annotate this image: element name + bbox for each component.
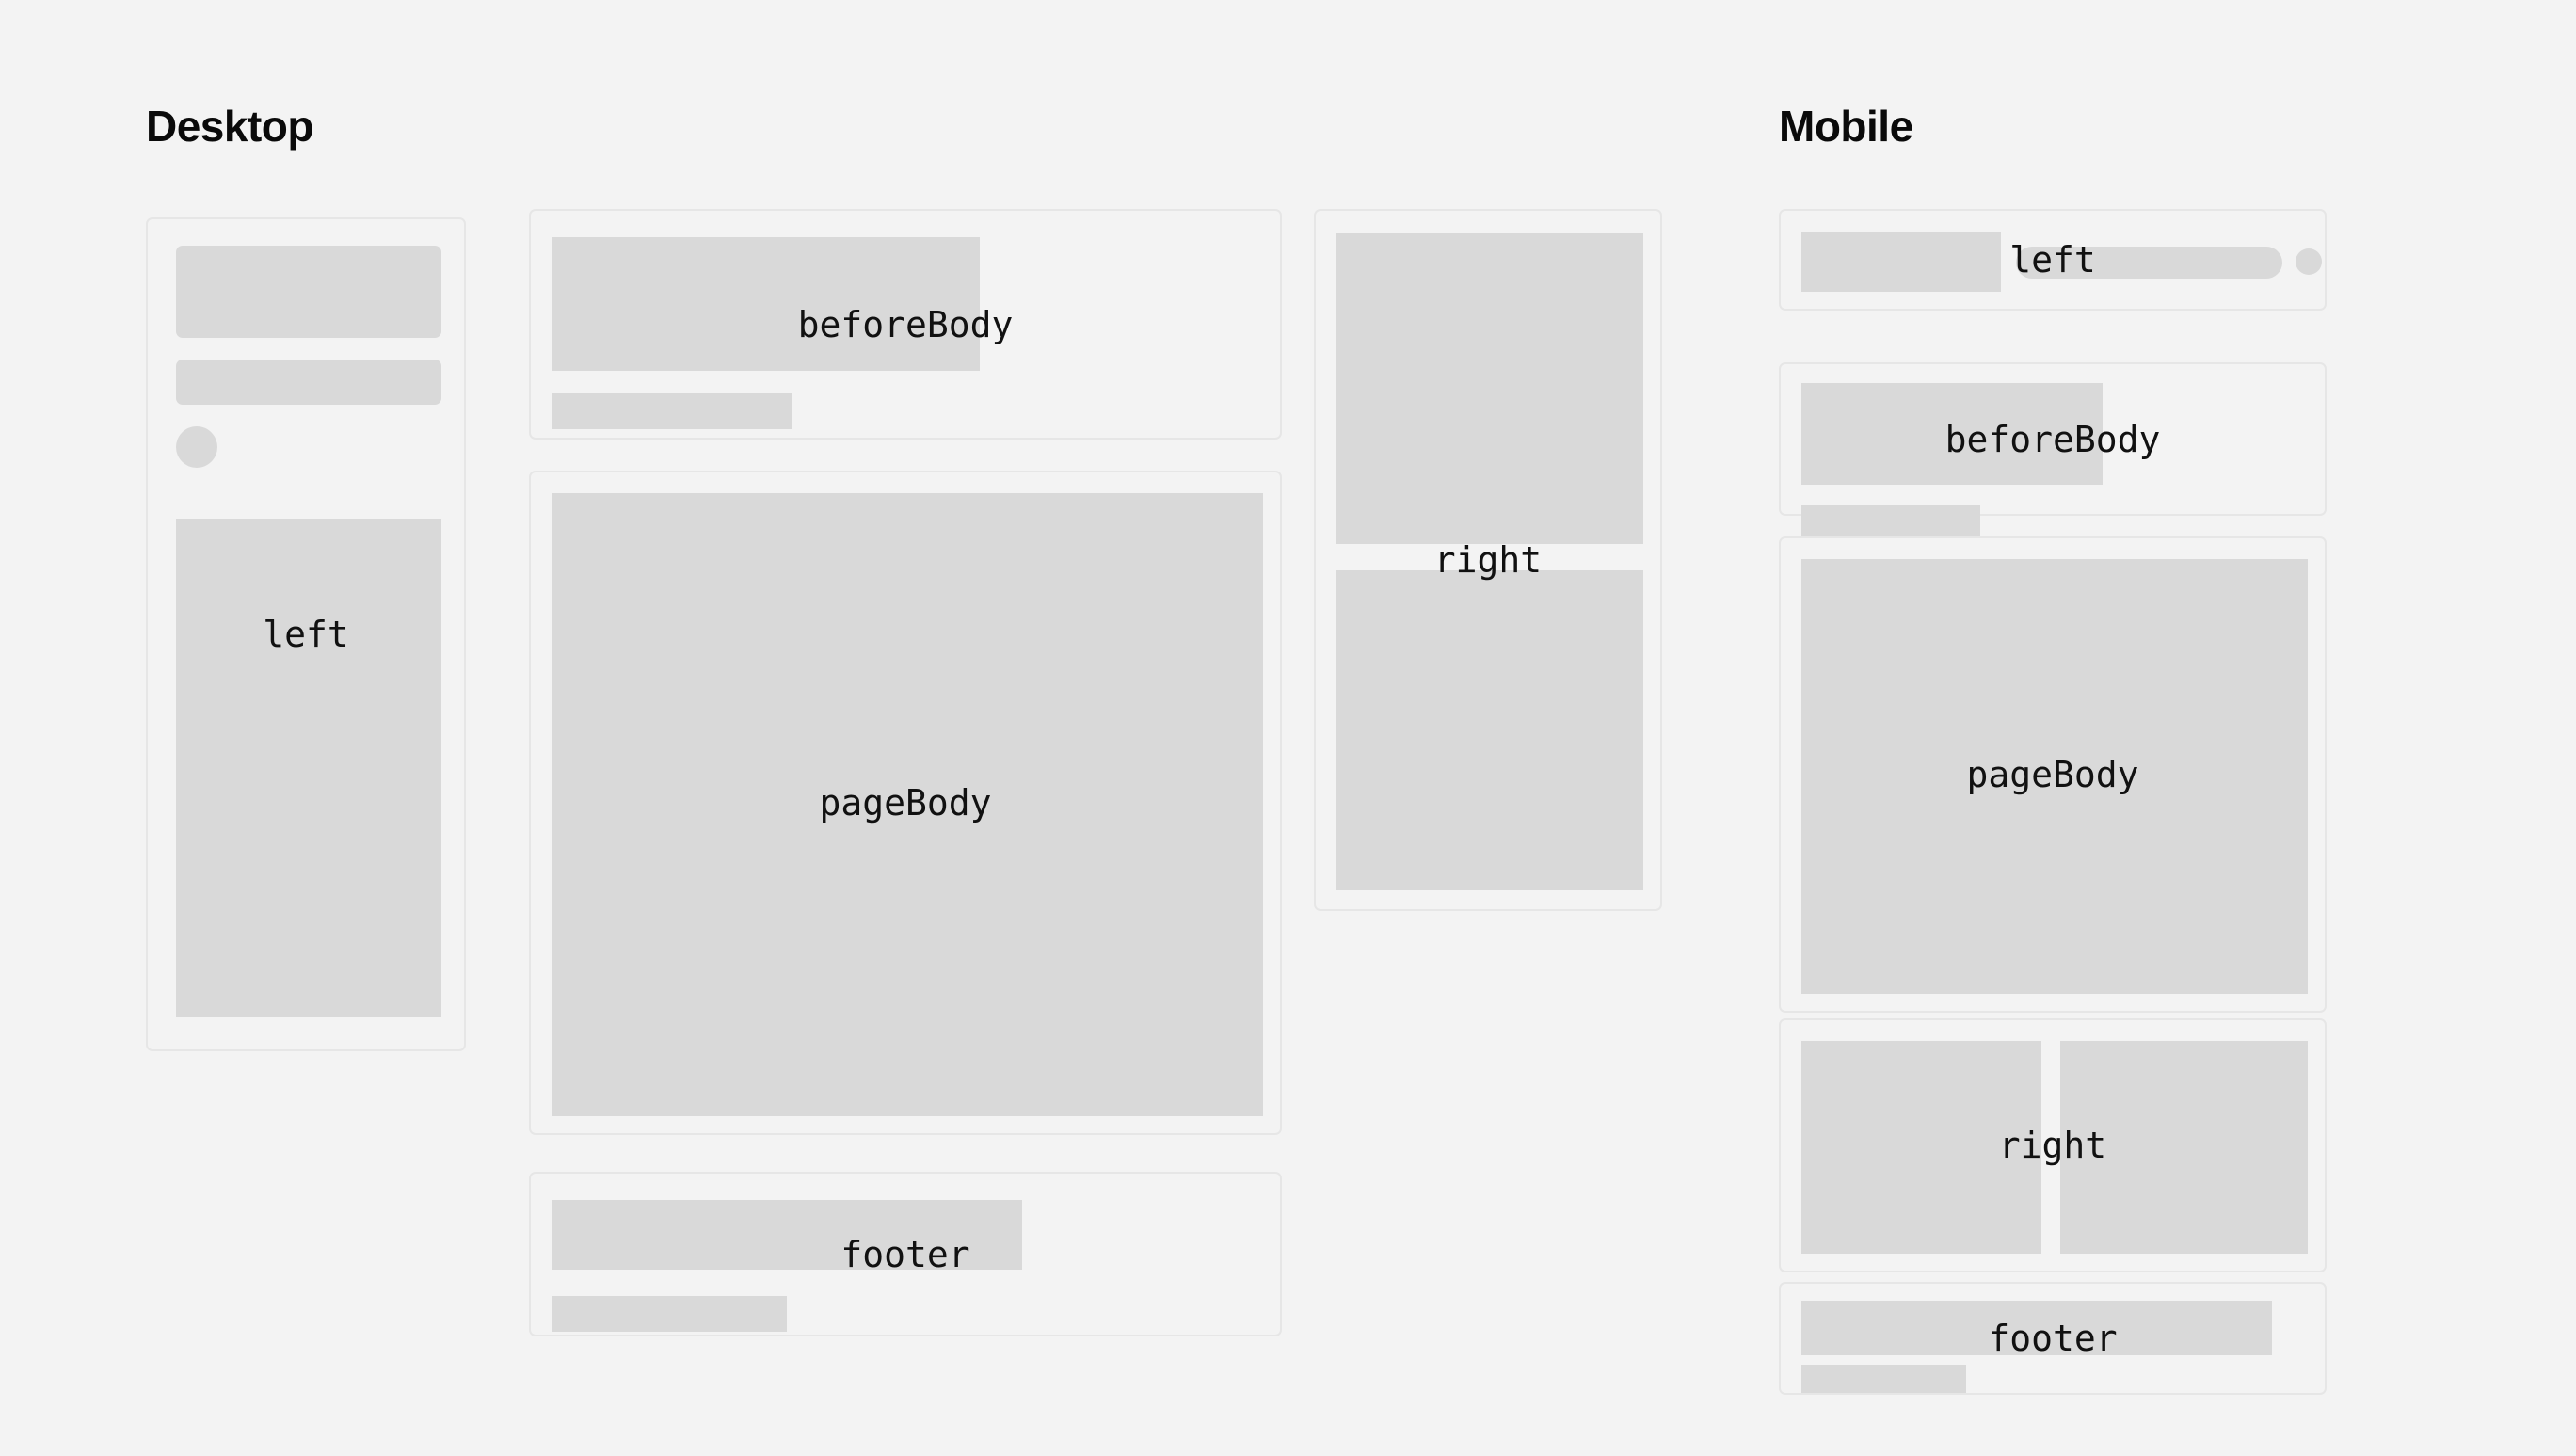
mobile-region-footer[interactable]: footer xyxy=(1779,1282,2327,1395)
placeholder-block xyxy=(1336,570,1643,890)
mobile-region-left[interactable]: left xyxy=(1779,209,2327,311)
placeholder-block xyxy=(552,1296,787,1332)
placeholder-block xyxy=(1801,505,1980,536)
placeholder-block xyxy=(1801,1301,2272,1355)
desktop-region-beforebody[interactable]: beforeBody xyxy=(529,209,1282,440)
mobile-region-beforebody[interactable]: beforeBody xyxy=(1779,362,2327,516)
placeholder-pill xyxy=(2016,247,2282,279)
placeholder-block xyxy=(176,360,441,405)
placeholder-avatar-circle xyxy=(2296,248,2322,275)
desktop-region-footer[interactable]: footer xyxy=(529,1172,1282,1336)
placeholder-avatar-circle xyxy=(176,426,217,468)
desktop-region-pagebody[interactable]: pageBody xyxy=(529,471,1282,1135)
mobile-region-pagebody[interactable]: pageBody xyxy=(1779,536,2327,1013)
placeholder-block xyxy=(552,493,1263,1116)
placeholder-block xyxy=(176,246,441,338)
placeholder-block xyxy=(176,519,441,1017)
placeholder-block xyxy=(552,237,980,371)
desktop-region-right[interactable]: right xyxy=(1314,209,1662,911)
desktop-region-left[interactable]: left xyxy=(146,217,466,1051)
placeholder-block xyxy=(1801,1365,1966,1393)
placeholder-block xyxy=(1801,559,2308,994)
placeholder-block xyxy=(1336,233,1643,544)
mobile-section-title: Mobile xyxy=(1779,104,1913,148)
placeholder-block xyxy=(552,1200,1022,1270)
placeholder-block xyxy=(1801,232,2001,292)
placeholder-block xyxy=(1801,383,2103,485)
placeholder-block xyxy=(1801,1041,2041,1254)
desktop-section-title: Desktop xyxy=(146,104,313,148)
placeholder-block xyxy=(2060,1041,2308,1254)
mobile-region-right[interactable]: right xyxy=(1779,1018,2327,1272)
placeholder-block xyxy=(552,393,792,429)
